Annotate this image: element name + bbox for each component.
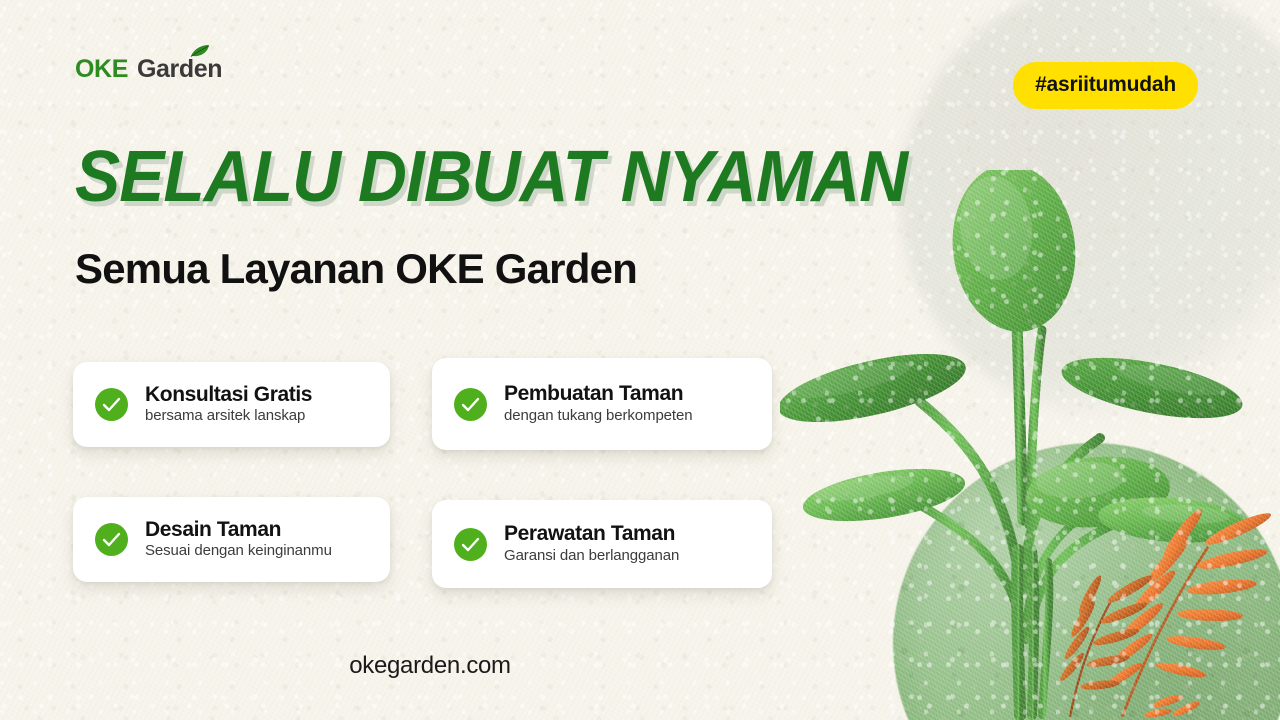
feature-card-text: Perawatan Taman Garansi dan berlangganan bbox=[504, 522, 679, 566]
feature-card[interactable]: Konsultasi Gratis bersama arsitek lanska… bbox=[73, 362, 390, 447]
page-subtitle: Semua Layanan OKE Garden bbox=[75, 245, 637, 293]
website-url[interactable]: okegarden.com bbox=[0, 652, 860, 680]
feature-title: Pembuatan Taman bbox=[504, 382, 683, 405]
feature-title: Konsultasi Gratis bbox=[145, 383, 312, 406]
check-circle-icon bbox=[454, 528, 487, 561]
feature-title: Perawatan Taman bbox=[504, 522, 675, 545]
feature-card-text: Desain Taman Sesuai dengan keinginanmu bbox=[145, 518, 332, 562]
leaf-icon bbox=[189, 44, 211, 58]
check-circle-icon bbox=[95, 388, 128, 421]
feature-card[interactable]: Perawatan Taman Garansi dan berlangganan bbox=[432, 500, 772, 588]
check-circle-icon bbox=[95, 523, 128, 556]
hashtag-badge[interactable]: #asriitumudah bbox=[1013, 62, 1198, 109]
check-circle-icon bbox=[454, 388, 487, 421]
logo-garden-text: Garden bbox=[137, 55, 222, 84]
feature-card[interactable]: Desain Taman Sesuai dengan keinginanmu bbox=[73, 497, 390, 582]
brand-logo[interactable]: OKE Garden bbox=[75, 55, 222, 84]
orange-fern-illustration bbox=[1050, 495, 1280, 720]
poster-canvas: OKE Garden #asriitumudah SELALU DIBUAT N… bbox=[0, 0, 1280, 720]
feature-subtitle: dengan tukang berkompeten bbox=[504, 407, 692, 424]
feature-card[interactable]: Pembuatan Taman dengan tukang berkompete… bbox=[432, 358, 772, 450]
feature-card-text: Pembuatan Taman dengan tukang berkompete… bbox=[504, 382, 692, 426]
logo-oke-text: OKE bbox=[75, 55, 128, 84]
feature-card-text: Konsultasi Gratis bersama arsitek lanska… bbox=[145, 383, 312, 427]
feature-title: Desain Taman bbox=[145, 518, 281, 541]
feature-subtitle: Sesuai dengan keinginanmu bbox=[145, 542, 332, 559]
feature-subtitle: bersama arsitek lanskap bbox=[145, 407, 305, 424]
page-title: SELALU DIBUAT NYAMAN bbox=[75, 141, 907, 213]
logo-garden-label: Garden bbox=[137, 55, 222, 83]
feature-subtitle: Garansi dan berlangganan bbox=[504, 547, 679, 564]
